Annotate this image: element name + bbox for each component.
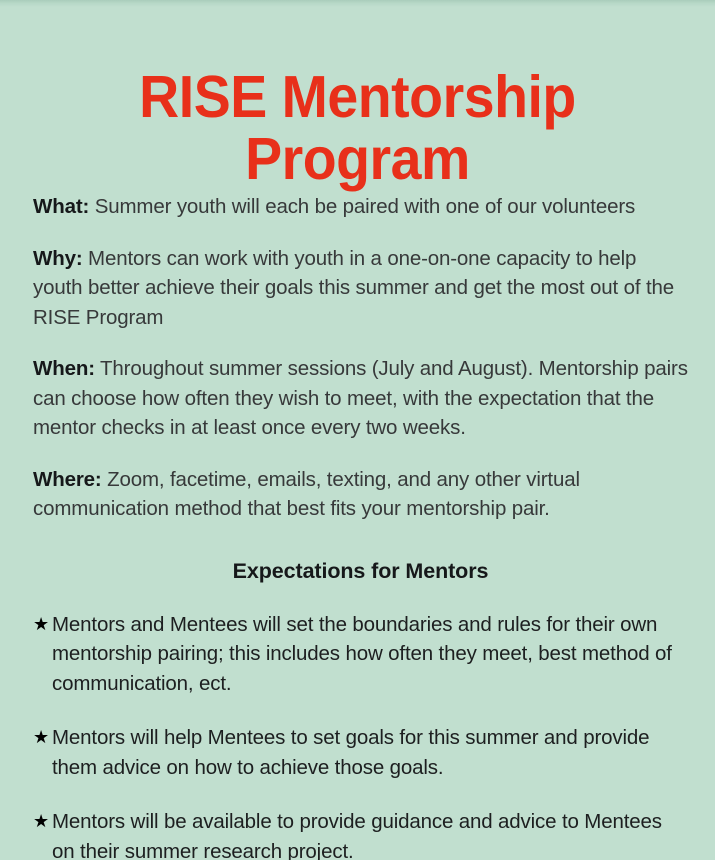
- star-bullet-icon: ★: [33, 610, 49, 640]
- list-item: ★Mentors and Mentees will set the bounda…: [33, 610, 688, 699]
- section-what-text: Summer youth will each be paired with on…: [89, 195, 635, 218]
- star-bullet-icon: ★: [33, 723, 49, 753]
- slide-canvas: RISE Mentorship Program What: Summer you…: [0, 0, 715, 860]
- list-item: ★Mentors will be available to provide gu…: [33, 807, 688, 860]
- section-what: What: Summer youth will each be paired w…: [33, 192, 688, 222]
- section-why-label: Why:: [33, 247, 83, 270]
- section-where-label: Where:: [33, 468, 102, 491]
- list-item-text: Mentors will be available to provide gui…: [52, 810, 662, 860]
- section-what-label: What:: [33, 195, 89, 218]
- section-when-text: Throughout summer sessions (July and Aug…: [33, 357, 688, 439]
- slide-top-edge: [0, 0, 715, 7]
- list-item-text: Mentors will help Mentees to set goals f…: [52, 726, 649, 779]
- section-why-text: Mentors can work with youth in a one-on-…: [33, 247, 674, 329]
- list-item-text: Mentors and Mentees will set the boundar…: [52, 613, 672, 695]
- page-title: RISE Mentorship Program: [21, 66, 693, 190]
- expectations-list: ★Mentors and Mentees will set the bounda…: [33, 610, 688, 860]
- section-where: Where: Zoom, facetime, emails, texting, …: [33, 465, 688, 524]
- section-why: Why: Mentors can work with youth in a on…: [33, 244, 688, 333]
- list-item: ★Mentors will help Mentees to set goals …: [33, 723, 688, 782]
- section-when: When: Throughout summer sessions (July a…: [33, 354, 688, 443]
- section-where-text: Zoom, facetime, emails, texting, and any…: [33, 468, 580, 521]
- section-when-label: When:: [33, 357, 95, 380]
- star-bullet-icon: ★: [33, 807, 49, 837]
- slide-body: What: Summer youth will each be paired w…: [33, 192, 688, 860]
- expectations-heading: Expectations for Mentors: [33, 558, 688, 584]
